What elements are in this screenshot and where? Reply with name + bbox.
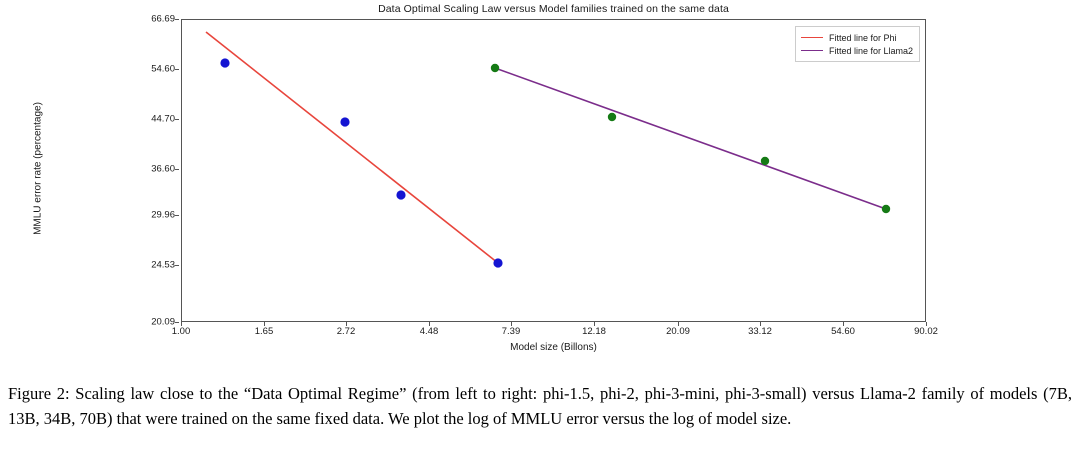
plot-area [181,19,926,322]
legend-line-swatch-phi [801,37,823,38]
x-tick-label: 20.09 [643,326,713,337]
x-tick-label: 2.72 [311,326,381,337]
x-axis-label: Model size (Billons) [181,342,926,353]
x-tick-label: 4.48 [394,326,464,337]
y-tick-mark [175,69,179,70]
y-tick-label: 29.96 [115,210,175,221]
y-tick-mark [175,119,179,120]
y-tick-mark [175,215,179,216]
chart-title: Data Optimal Scaling Law versus Model fa… [181,3,926,15]
y-tick-mark [175,265,179,266]
y-tick-label: 54.60 [115,64,175,75]
y-tick-label: 44.70 [115,114,175,125]
plot-canvas [182,20,927,323]
y-tick-mark [175,322,179,323]
chart-legend[interactable]: Fitted line for Phi Fitted line for Llam… [795,26,920,62]
y-tick-label: 36.60 [115,164,175,175]
figure-caption: Figure 2: Scaling law close to the “Data… [8,381,1072,431]
x-tick-label: 7.39 [476,326,546,337]
x-tick-label: 54.60 [808,326,878,337]
legend-label-llama2: Fitted line for Llama2 [829,46,913,56]
legend-line-swatch-llama2 [801,50,823,51]
y-axis-ticks: 66.69 54.60 44.70 36.60 29.96 24.53 20.0… [113,0,175,370]
chart-figure: Data Optimal Scaling Law versus Model fa… [0,0,1080,370]
phi-fit-line [206,32,498,263]
y-tick-mark [175,19,179,20]
phi-data-points [220,58,502,267]
y-axis-label: MMLU error rate (percentage) [33,69,44,269]
x-tick-label: 1.65 [229,326,299,337]
legend-item-llama2[interactable]: Fitted line for Llama2 [801,44,913,57]
x-tick-label: 33.12 [725,326,795,337]
legend-label-phi: Fitted line for Phi [829,33,897,43]
x-tick-label: 90.02 [891,326,961,337]
llama2-fit-line [495,68,886,209]
x-tick-label: 12.18 [559,326,629,337]
legend-item-phi[interactable]: Fitted line for Phi [801,31,913,44]
y-tick-mark [175,169,179,170]
y-tick-label: 66.69 [115,14,175,25]
figure-page: Data Optimal Scaling Law versus Model fa… [0,0,1080,463]
y-tick-label: 24.53 [115,260,175,271]
x-tick-label: 1.00 [146,326,216,337]
